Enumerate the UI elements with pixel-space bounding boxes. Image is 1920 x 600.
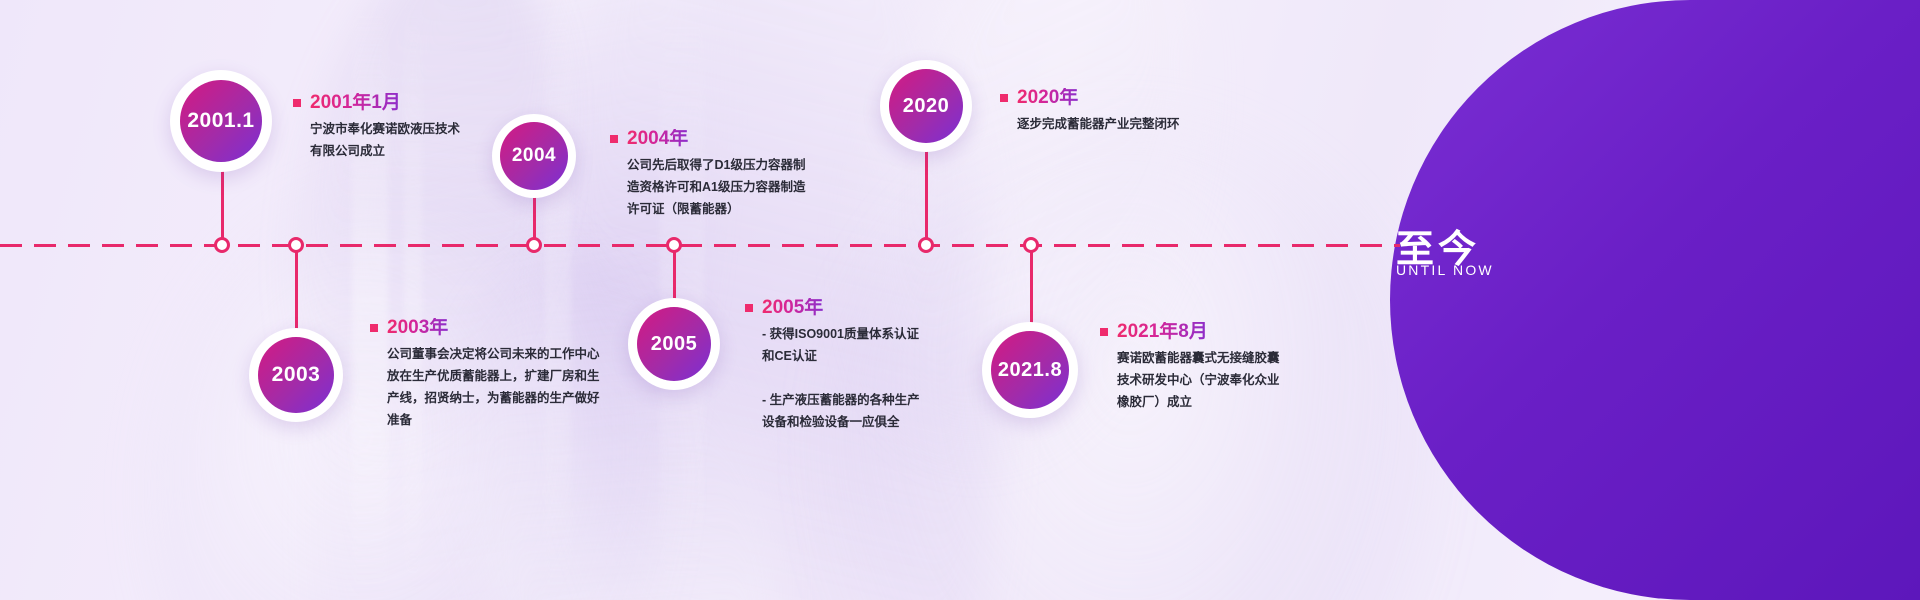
connector-stem-2003 — [295, 245, 298, 330]
milestone-entry-2003[interactable]: 2003年 公司董事会决定将公司未来的工作中心 放在生产优质蓄能器上，扩建厂房和… — [370, 318, 600, 432]
milestone-body: 逐步完成蓄能器产业完整闭环 — [1000, 114, 1250, 136]
milestone-entry-2001[interactable]: 2001年1月 宁波市奉化赛诺欧液压技术 有限公司成立 — [293, 93, 473, 163]
milestone-bubble-label: 2005 — [637, 307, 711, 381]
milestone-bubble-label: 2020 — [889, 69, 963, 143]
timeline-node-2005[interactable] — [666, 237, 682, 253]
bullet-square-icon — [1100, 328, 1108, 336]
milestone-entry-2004[interactable]: 2004年 公司先后取得了D1级压力容器制 造资格许可和A1级压力容器制造 许可… — [610, 129, 825, 221]
milestone-heading: 2003年 — [387, 318, 448, 337]
background-streak-2 — [404, 0, 422, 600]
bullet-square-icon — [293, 99, 301, 107]
bullet-square-icon — [610, 135, 618, 143]
background-streak-3 — [545, 0, 571, 600]
timeline-infographic: 至今 UNTIL NOW 2001.1 2003 2004 2005 2020 … — [0, 0, 1920, 600]
timeline-node-2004[interactable] — [526, 237, 542, 253]
milestone-heading-row: 2001年1月 — [293, 93, 473, 112]
timeline-node-2003[interactable] — [288, 237, 304, 253]
background-streak-1 — [352, 0, 388, 600]
milestone-bubble-2001[interactable]: 2001.1 — [170, 70, 272, 172]
milestone-heading-row: 2005年 — [745, 298, 960, 317]
milestone-bubble-label: 2003 — [258, 337, 334, 413]
timeline-node-2021[interactable] — [1023, 237, 1039, 253]
milestone-bubble-2021[interactable]: 2021.8 — [982, 322, 1078, 418]
timeline-node-2001[interactable] — [214, 237, 230, 253]
milestone-bubble-2020[interactable]: 2020 — [880, 60, 972, 152]
milestone-heading-row: 2021年8月 — [1100, 322, 1315, 341]
milestone-heading-row: 2004年 — [610, 129, 825, 148]
until-now-title-en: UNTIL NOW — [1396, 262, 1494, 278]
bullet-square-icon — [370, 324, 378, 332]
milestone-heading: 2021年8月 — [1117, 322, 1208, 341]
milestone-body: 公司先后取得了D1级压力容器制 造资格许可和A1级压力容器制造 许可证（限蓄能器… — [610, 155, 825, 221]
milestone-heading: 2005年 — [762, 298, 823, 317]
milestone-heading-row: 2020年 — [1000, 88, 1250, 107]
milestone-body: - 获得ISO9001质量体系认证 和CE认证 - 生产液压蓄能器的各种生产 设… — [745, 324, 960, 433]
bullet-square-icon — [745, 304, 753, 312]
connector-stem-2021 — [1030, 245, 1033, 325]
connector-stem-2001 — [221, 160, 224, 245]
timeline-node-2020[interactable] — [918, 237, 934, 253]
milestone-heading: 2004年 — [627, 129, 688, 148]
milestone-bubble-label: 2004 — [500, 122, 568, 190]
milestone-body: 宁波市奉化赛诺欧液压技术 有限公司成立 — [293, 119, 473, 163]
milestone-entry-2005[interactable]: 2005年 - 获得ISO9001质量体系认证 和CE认证 - 生产液压蓄能器的… — [745, 298, 960, 433]
milestone-bubble-label: 2021.8 — [991, 331, 1069, 409]
timeline-axis — [0, 244, 1400, 247]
milestone-bubble-label: 2001.1 — [180, 80, 262, 162]
milestone-heading: 2020年 — [1017, 88, 1078, 107]
milestone-bubble-2003[interactable]: 2003 — [249, 328, 343, 422]
connector-stem-2005 — [673, 245, 676, 300]
milestone-heading: 2001年1月 — [310, 93, 401, 112]
milestone-bubble-2004[interactable]: 2004 — [492, 114, 576, 198]
milestone-body: 公司董事会决定将公司未来的工作中心 放在生产优质蓄能器上，扩建厂房和生 产线，招… — [370, 344, 600, 432]
connector-stem-2020 — [925, 150, 928, 245]
milestone-bubble-2005[interactable]: 2005 — [628, 298, 720, 390]
bullet-square-icon — [1000, 94, 1008, 102]
milestone-entry-2020[interactable]: 2020年 逐步完成蓄能器产业完整闭环 — [1000, 88, 1250, 136]
milestone-heading-row: 2003年 — [370, 318, 600, 337]
milestone-entry-2021[interactable]: 2021年8月 赛诺欧蓄能器囊式无接缝胶囊 技术研发中心（宁波奉化众业 橡胶厂）… — [1100, 322, 1315, 414]
milestone-body: 赛诺欧蓄能器囊式无接缝胶囊 技术研发中心（宁波奉化众业 橡胶厂）成立 — [1100, 348, 1315, 414]
